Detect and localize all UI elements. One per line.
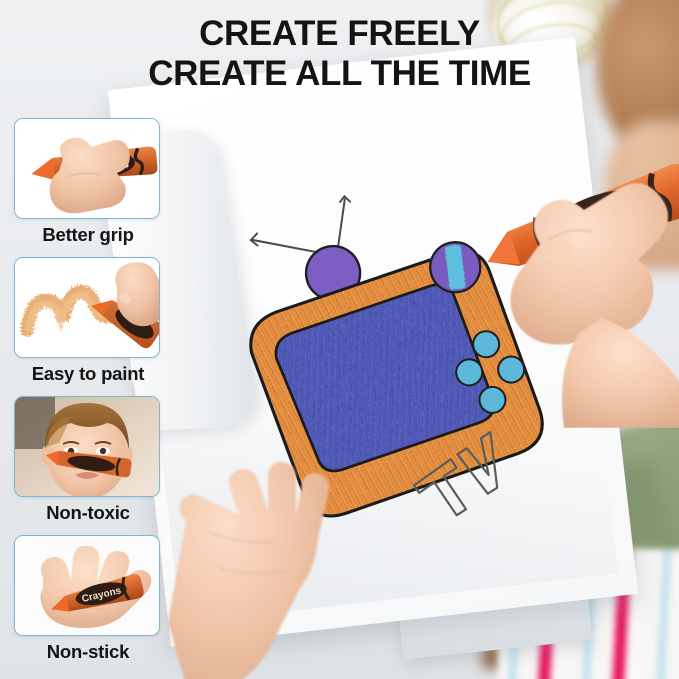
feature-caption: Easy to paint	[14, 363, 162, 385]
child-hand-holding-paper	[168, 392, 408, 679]
crayon-stroke-thumb[interactable]	[14, 257, 160, 358]
hand-holding-crayon-thumb[interactable]: Crayons	[14, 118, 160, 219]
feature-caption: Better grip	[14, 224, 162, 246]
feature-caption: Non-toxic	[14, 502, 162, 524]
fingers	[510, 183, 668, 344]
open-palm-crayon-thumb[interactable]: Crayons	[14, 535, 160, 636]
headline-line-1: CREATE FREELY	[0, 14, 679, 54]
feature-item-better-grip[interactable]: Crayons Better grip	[14, 118, 162, 246]
feature-item-easy-to-paint[interactable]: Easy to paint	[14, 257, 162, 385]
product-feature-poster: Crayons CREATE FREELY CREATE ALL THE TIM…	[0, 0, 679, 679]
feature-item-non-stick[interactable]: Crayons Non-stick	[14, 535, 162, 663]
feature-list: Crayons Better grip	[14, 118, 162, 674]
feature-item-non-toxic[interactable]: Non-toxic	[14, 396, 162, 524]
child-with-crayon-thumb[interactable]	[14, 396, 160, 497]
feature-caption: Non-stick	[14, 641, 162, 663]
headline-line-2: CREATE ALL THE TIME	[0, 54, 679, 94]
child-hand-with-crayon: Crayons	[452, 148, 679, 428]
page-title: CREATE FREELY CREATE ALL THE TIME	[0, 14, 679, 94]
